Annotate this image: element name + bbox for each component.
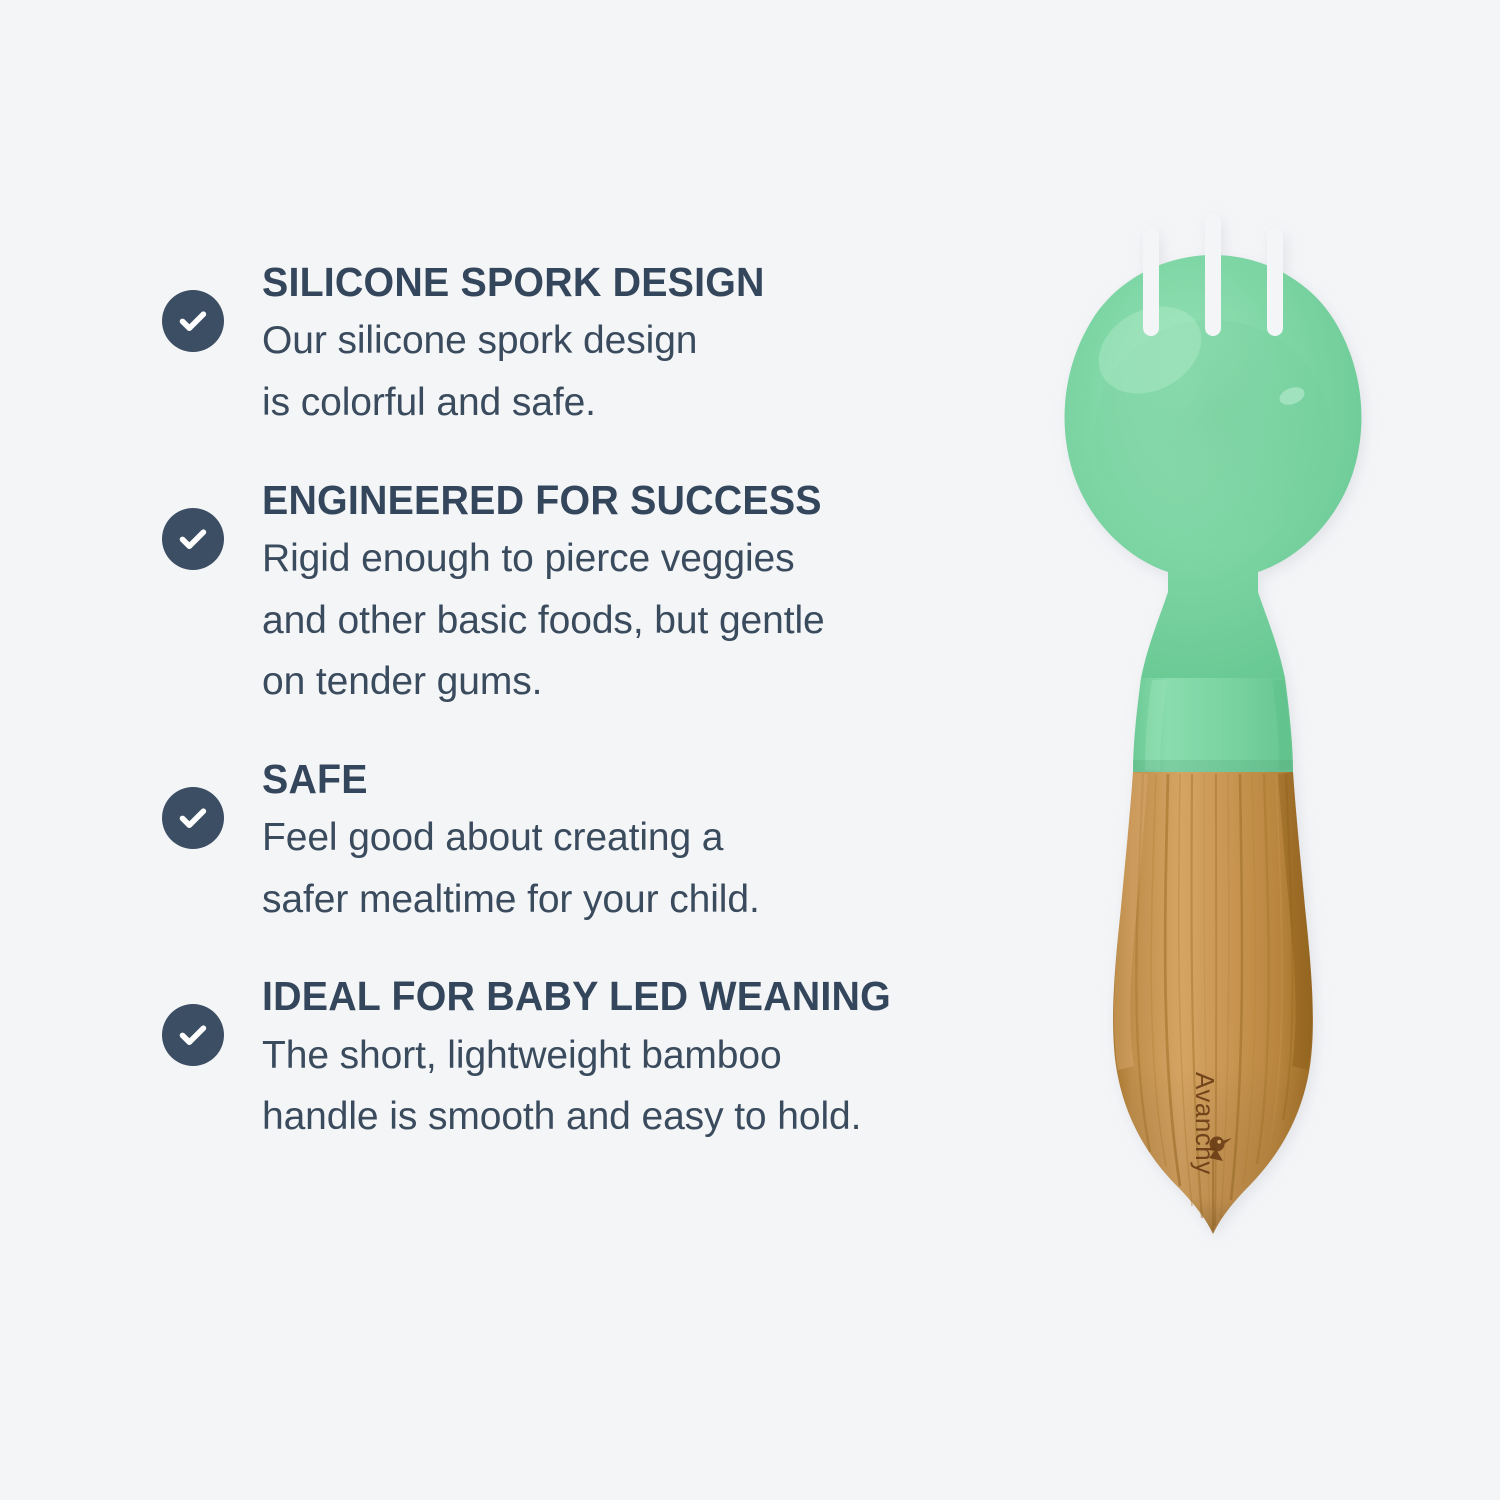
feature-description-line: safer mealtime for your child. (262, 869, 1042, 931)
check-circle-icon (162, 508, 224, 570)
feature-title: SILICONE SPORK DESIGN (262, 258, 1011, 306)
feature-title: IDEAL FOR BABY LED WEANING (262, 972, 1011, 1020)
feature-description-line: is colorful and safe. (262, 372, 1042, 434)
feature-description: Rigid enough to pierce veggies and other… (262, 528, 1042, 713)
feature-description-line: Feel good about creating a (262, 807, 1042, 869)
feature-description-line: and other basic foods, but gentle (262, 590, 1042, 652)
feature-item: SILICONE SPORK DESIGN Our silicone spork… (162, 258, 1042, 434)
feature-description: Our silicone spork design is colorful an… (262, 310, 1042, 433)
feature-item: IDEAL FOR BABY LED WEANING The short, li… (162, 972, 1042, 1148)
feature-description-line: handle is smooth and easy to hold. (262, 1086, 1042, 1148)
product-feature-infographic: SILICONE SPORK DESIGN Our silicone spork… (0, 0, 1500, 1500)
feature-item: ENGINEERED FOR SUCCESS Rigid enough to p… (162, 476, 1042, 713)
feature-description-line: on tender gums. (262, 651, 1042, 713)
check-circle-icon (162, 290, 224, 352)
feature-title: SAFE (262, 755, 1011, 803)
silicone-spork-head (1065, 222, 1362, 776)
feature-title: ENGINEERED FOR SUCCESS (262, 476, 1011, 524)
product-image: Avanchy (1000, 200, 1420, 1320)
check-circle-icon (162, 787, 224, 849)
feature-description: Feel good about creating a safer mealtim… (262, 807, 1042, 930)
feature-list: SILICONE SPORK DESIGN Our silicone spork… (162, 258, 1042, 1148)
feature-item: SAFE Feel good about creating a safer me… (162, 755, 1042, 931)
feature-description-line: Our silicone spork design (262, 310, 1042, 372)
feature-description: The short, lightweight bamboo handle is … (262, 1025, 1042, 1148)
feature-description-line: The short, lightweight bamboo (262, 1025, 1042, 1087)
check-circle-icon (162, 1004, 224, 1066)
bamboo-handle: Avanchy (1113, 772, 1313, 1234)
feature-description-line: Rigid enough to pierce veggies (262, 528, 1042, 590)
